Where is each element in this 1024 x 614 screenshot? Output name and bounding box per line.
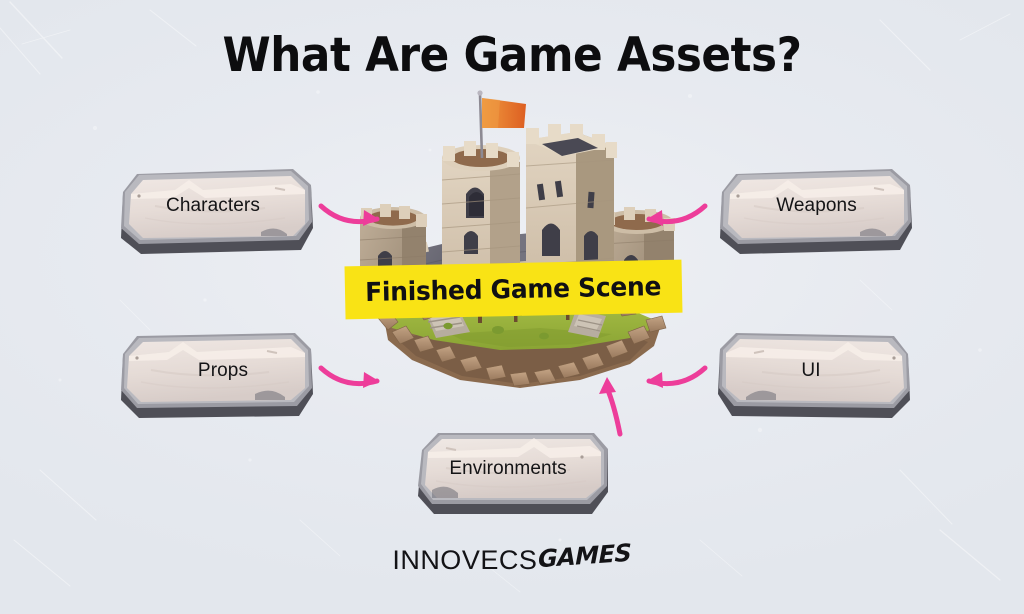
tablet-label-ui: UI (706, 360, 916, 382)
castle-illustration (330, 88, 705, 408)
asset-tablet-ui[interactable]: UI (714, 330, 916, 422)
logo-innovecs-text: INNOVECS (392, 545, 537, 575)
asset-tablet-weapons[interactable]: Weapons (714, 166, 916, 258)
tablet-label-characters: Characters (109, 195, 317, 217)
tablet-label-environments: Environments (402, 458, 614, 480)
asset-tablet-props[interactable]: Props (115, 330, 317, 422)
page-title: What Are Game Assets? (36, 28, 988, 83)
logo-games-text: GAMES (538, 538, 631, 573)
finished-game-scene-banner: Finished Game Scene (345, 260, 683, 320)
asset-tablet-characters[interactable]: Characters (115, 166, 317, 258)
tablet-label-props: Props (129, 360, 317, 382)
asset-tablet-environments[interactable]: Environments (412, 428, 614, 520)
banner-label: Finished Game Scene (365, 272, 661, 308)
brand-logo: INNOVECSGAMES (0, 545, 1024, 576)
infographic-canvas: What Are Game Assets? (0, 0, 1024, 614)
tablet-label-weapons: Weapons (717, 195, 916, 217)
